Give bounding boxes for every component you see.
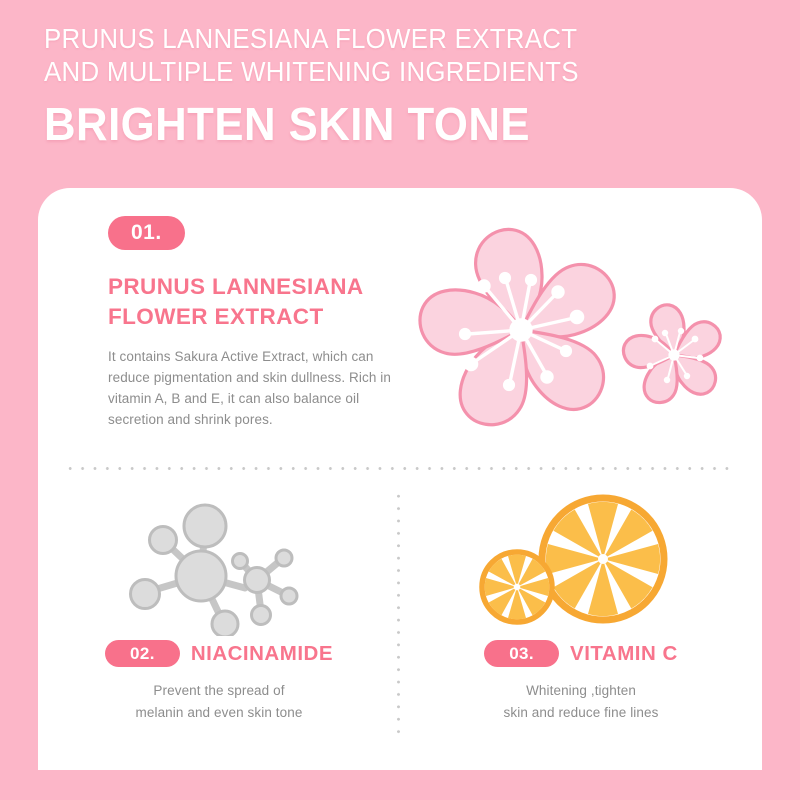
header-subtitle-line-1: PRUNUS LANNESIANA FLOWER EXTRACT [44, 22, 713, 55]
section-01-body-line-2: reduce pigmentation and skin dullness. R… [108, 367, 408, 388]
section-01-heading-line-1: PRUNUS LANNESIANA [108, 272, 408, 302]
header-subtitle-line-2: AND MULTIPLE WHITENING INGREDIENTS [44, 55, 713, 88]
section-01-text-block: 01. PRUNUS LANNESIANA FLOWER EXTRACT It … [108, 216, 408, 430]
section-01-body-line-4: secretion and shrink pores. [108, 409, 408, 430]
section-vitamin-c: 03. VITAMIN C Whitening ,tighten skin an… [400, 484, 762, 764]
badge-number-01: 01. [108, 216, 185, 250]
molecule-icon [38, 484, 400, 636]
horizontal-dotted-divider [64, 467, 736, 470]
section-01-body: It contains Sakura Active Extract, which… [108, 346, 408, 430]
section-01-body-line-1: It contains Sakura Active Extract, which… [108, 346, 408, 367]
section-03-desc-line-2: skin and reduce fine lines [400, 702, 762, 724]
page-title: BRIGHTEN SKIN TONE [44, 97, 720, 151]
citrus-slice-icon [400, 484, 762, 636]
section-03-description: Whitening ,tighten skin and reduce fine … [400, 680, 762, 724]
section-niacinamide: 02. NIACINAMIDE Prevent the spread of me… [38, 484, 400, 764]
section-02-description: Prevent the spread of melanin and even s… [38, 680, 400, 724]
badge-number-03: 03. [484, 640, 559, 667]
ingredients-card: 01. PRUNUS LANNESIANA FLOWER EXTRACT It … [38, 188, 762, 770]
ingredient-name-niacinamide: NIACINAMIDE [191, 642, 333, 666]
section-prunus-lannesiana: 01. PRUNUS LANNESIANA FLOWER EXTRACT It … [38, 188, 762, 468]
section-03-title-row: 03. VITAMIN C [400, 640, 762, 667]
page-header: PRUNUS LANNESIANA FLOWER EXTRACT AND MUL… [44, 22, 756, 151]
section-02-desc-line-2: melanin and even skin tone [38, 702, 400, 724]
section-03-desc-line-1: Whitening ,tighten [400, 680, 762, 702]
sakura-flower-icon [416, 222, 736, 437]
section-02-title-row: 02. NIACINAMIDE [38, 640, 400, 667]
section-02-desc-line-1: Prevent the spread of [38, 680, 400, 702]
section-01-heading-line-2: FLOWER EXTRACT [108, 302, 408, 332]
badge-number-02: 02. [105, 640, 180, 667]
section-01-body-line-3: vitamin A, B and E, it can also balance … [108, 388, 408, 409]
section-01-heading: PRUNUS LANNESIANA FLOWER EXTRACT [108, 272, 408, 332]
ingredient-name-vitamin-c: VITAMIN C [570, 642, 678, 666]
